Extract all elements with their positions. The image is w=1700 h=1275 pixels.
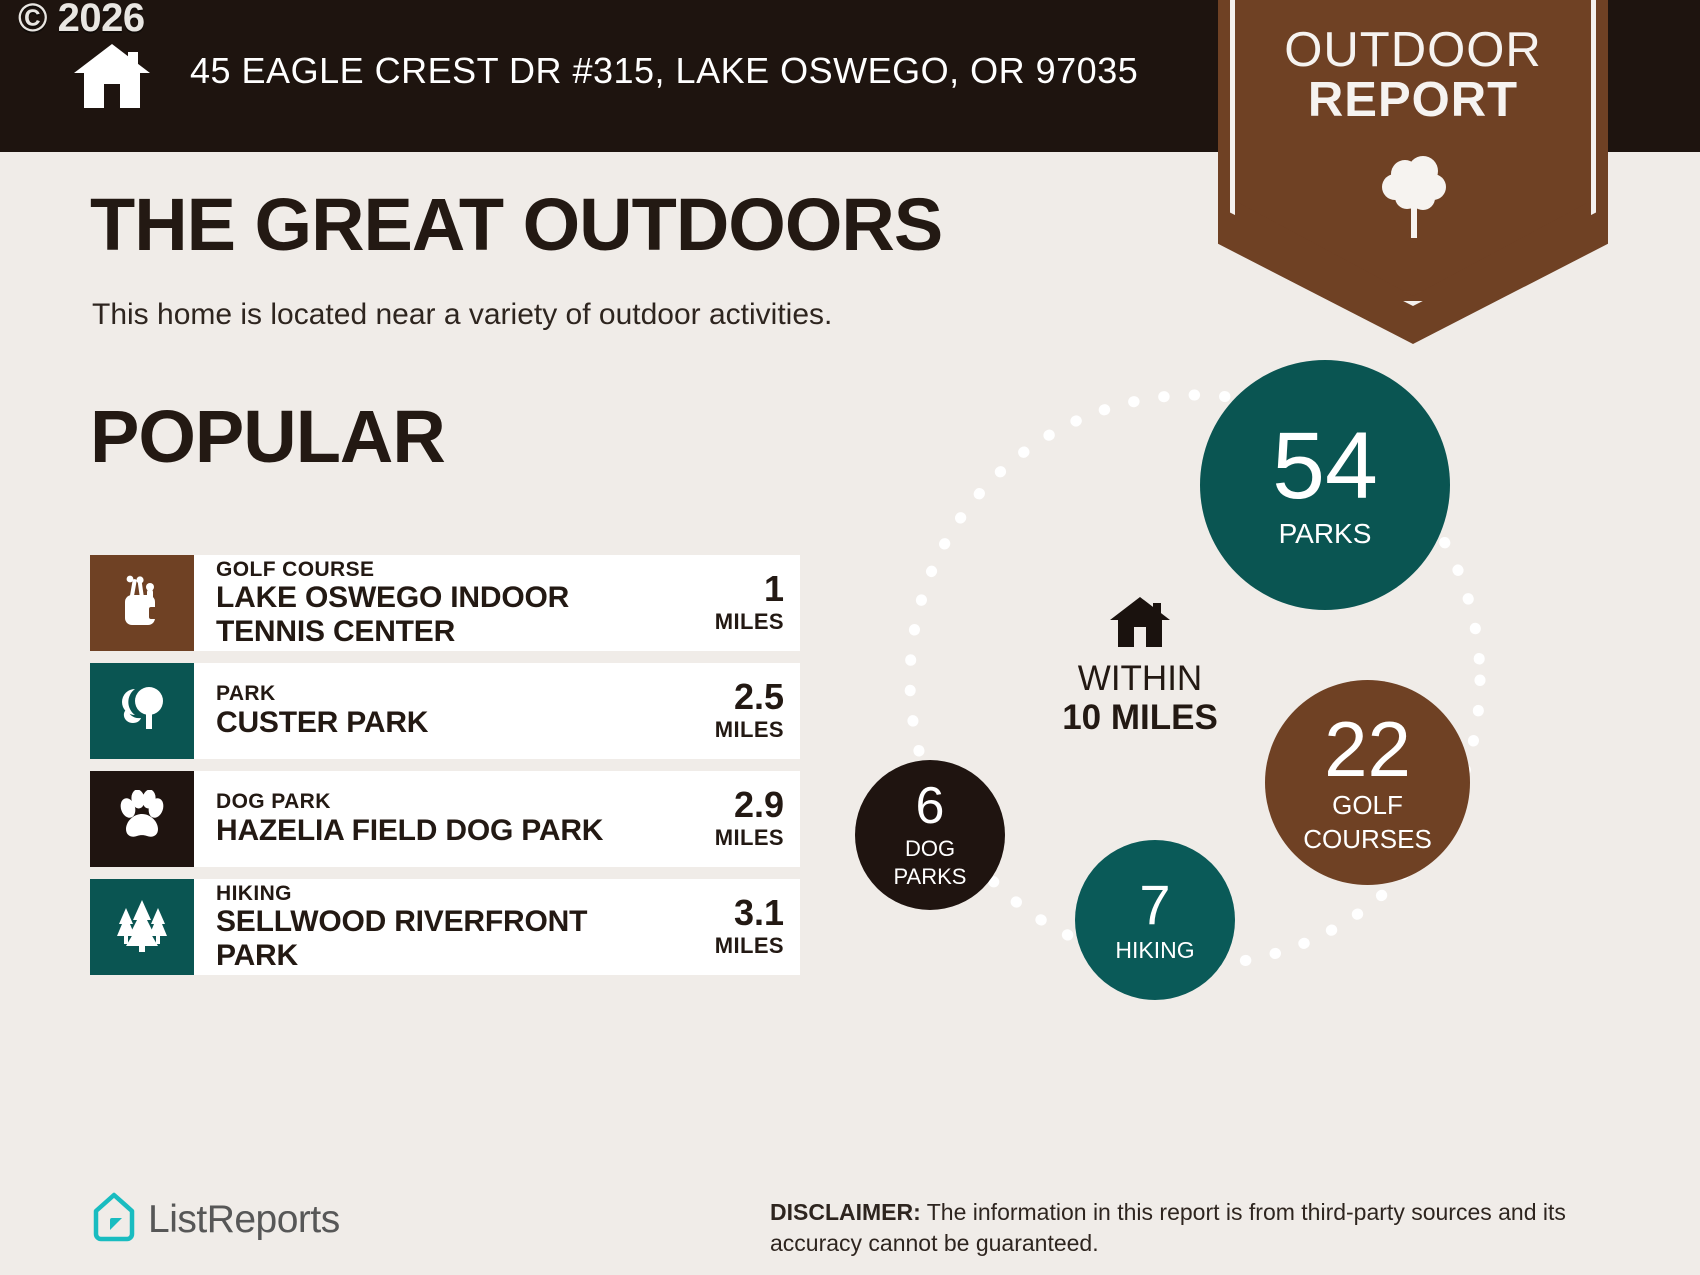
item-distance-unit: MILES [715,933,784,959]
item-distance-unit: MILES [715,825,784,851]
item-text-block: HIKING SELLWOOD RIVERFRONT PARK [194,879,672,975]
outdoor-report-badge: OUTDOOR REPORT [1218,0,1608,344]
item-distance-unit: MILES [715,609,784,635]
listreports-brand[interactable]: ListReports [92,1192,340,1247]
item-distance-value: 3.1 [734,895,784,931]
bubble-parks-label: PARKS [1279,519,1372,548]
home-icon [1015,595,1265,654]
item-category: DOG PARK [216,790,603,814]
item-category: GOLF COURSE [216,558,672,582]
bubble-dog-parks: 6 DOG PARKS [855,760,1005,910]
paw-print-icon [116,790,168,849]
popular-list: GOLF COURSE LAKE OSWEGO INDOOR TENNIS CE… [90,555,800,987]
section-title-popular: POPULAR [90,400,445,474]
park-tree-icon [115,683,169,740]
page-title: THE GREAT OUTDOORS [90,188,942,262]
item-icon-tile [90,663,194,759]
page-subtitle: This home is located near a variety of o… [92,298,832,332]
item-icon-tile [90,771,194,867]
item-distance-value: 1 [764,571,784,607]
item-name: HAZELIA FIELD DOG PARK [216,814,603,848]
bubble-dog-value: 6 [916,782,945,831]
item-category: PARK [216,682,428,706]
item-name: CUSTER PARK [216,706,428,740]
item-distance-value: 2.5 [734,679,784,715]
item-name: SELLWOOD RIVERFRONT PARK [216,905,672,972]
bubble-hiking-value: 7 [1139,878,1170,931]
list-item[interactable]: GOLF COURSE LAKE OSWEGO INDOOR TENNIS CE… [90,555,800,651]
disclaimer-label: DISCLAIMER: [770,1199,921,1225]
item-distance: 2.9 MILES [672,771,800,867]
bubble-dog-label-line1: DOG [905,837,955,860]
bubble-golf-courses: 22 GOLF COURSES [1265,680,1470,885]
bubble-parks-value: 54 [1272,421,1378,511]
list-item[interactable]: HIKING SELLWOOD RIVERFRONT PARK 3.1 MILE… [90,879,800,975]
listreports-logo-icon [92,1192,136,1247]
item-icon-tile [90,555,194,651]
chart-center-label: WITHIN 10 MILES [1015,595,1265,737]
bubble-golf-label-line1: GOLF [1332,792,1403,819]
bubble-hiking-label: HIKING [1115,938,1194,962]
badge-title: OUTDOOR REPORT [1218,26,1608,126]
item-icon-tile [90,879,194,975]
badge-title-line2: REPORT [1218,76,1608,126]
disclaimer: DISCLAIMER: The information in this repo… [770,1197,1650,1259]
property-address: 45 EAGLE CREST DR #315, LAKE OSWEGO, OR … [190,50,1138,92]
item-distance: 1 MILES [672,555,800,651]
tree-icon [1381,154,1447,240]
bubble-golf-value: 22 [1324,712,1411,786]
bubble-dog-label-line2: PARKS [894,865,967,888]
bubble-parks: 54 PARKS [1200,360,1450,610]
center-line2: 10 MILES [1015,699,1265,738]
item-distance: 3.1 MILES [672,879,800,975]
bubble-golf-label-line2: COURSES [1303,826,1432,853]
within-10-miles-chart: 54 PARKS 22 GOLF COURSES 6 DOG PARKS 7 H… [900,350,1540,1030]
copyright-label: © 2026 [18,0,145,41]
item-text-block: DOG PARK HAZELIA FIELD DOG PARK [194,771,672,867]
golf-bag-icon [119,573,165,634]
item-category: HIKING [216,882,672,906]
home-icon [72,42,152,110]
item-text-block: GOLF COURSE LAKE OSWEGO INDOOR TENNIS CE… [194,555,672,651]
center-line1: WITHIN [1015,660,1265,699]
item-distance-unit: MILES [715,717,784,743]
item-distance: 2.5 MILES [672,663,800,759]
item-name: LAKE OSWEGO INDOOR TENNIS CENTER [216,581,672,648]
list-item[interactable]: DOG PARK HAZELIA FIELD DOG PARK 2.9 MILE… [90,771,800,867]
list-item[interactable]: PARK CUSTER PARK 2.5 MILES [90,663,800,759]
bubble-hiking: 7 HIKING [1075,840,1235,1000]
listreports-brand-name: ListReports [148,1198,340,1242]
badge-title-line1: OUTDOOR [1218,26,1608,76]
pine-trees-icon [113,898,171,957]
item-text-block: PARK CUSTER PARK [194,663,672,759]
item-distance-value: 2.9 [734,787,784,823]
